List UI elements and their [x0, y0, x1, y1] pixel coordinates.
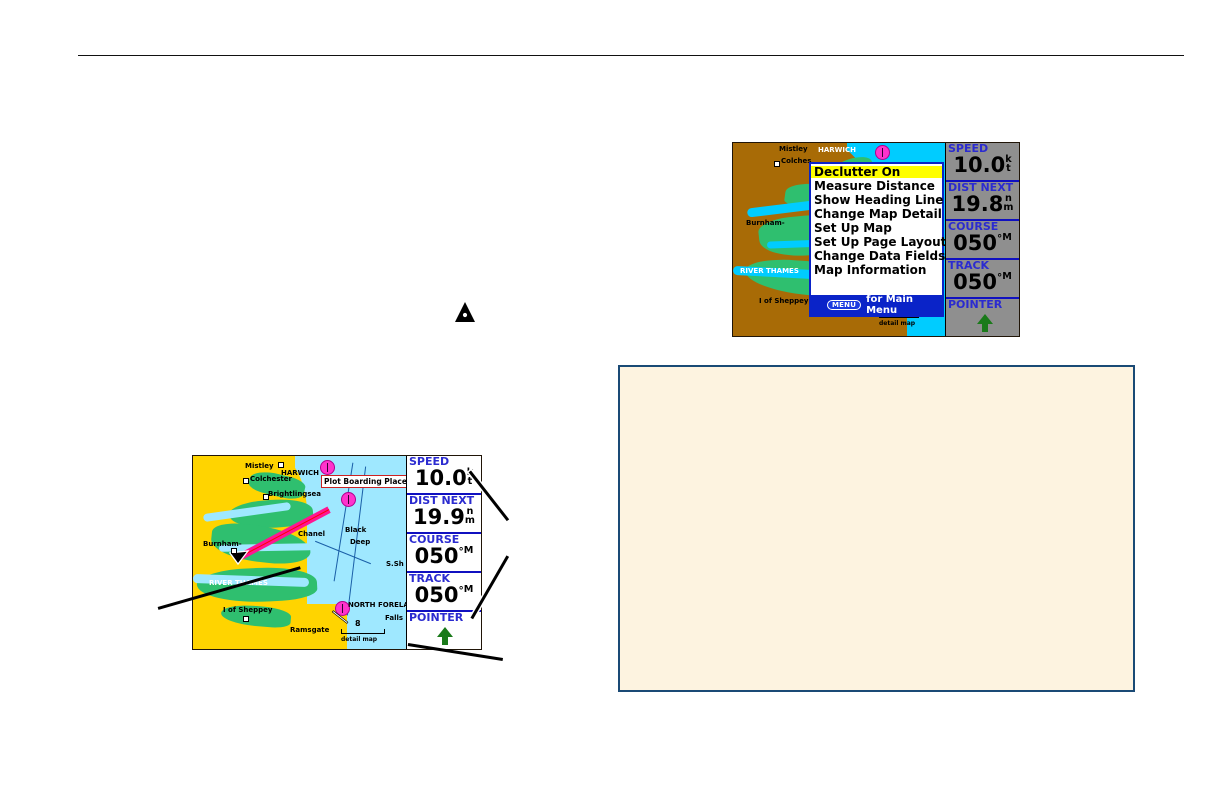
map-label: Chanel [298, 530, 325, 538]
town-marker [243, 478, 249, 484]
unit-bottom: m [465, 516, 475, 525]
data-field-label: POINTER [409, 612, 479, 623]
map-scale-caption: detail map [341, 636, 377, 643]
menu-item-map-information[interactable]: Map Information [811, 264, 942, 276]
value-text: 050 [415, 544, 459, 568]
unit-bottom: t [467, 477, 473, 486]
data-field-label: POINTER [948, 299, 1017, 310]
data-field-speed[interactable]: SPEED 10.0kt [407, 456, 481, 495]
warning-triangle-icon [453, 300, 477, 324]
menu-item-change-data-fields[interactable]: Change Data Fields [811, 250, 942, 262]
arrow-up-icon [948, 313, 1017, 337]
data-field-dist-next[interactable]: DIST NEXT 19.9nm [407, 495, 481, 534]
menu-item-show-heading-line[interactable]: Show Heading Line [811, 194, 942, 206]
town-marker [278, 462, 284, 468]
town-marker [243, 616, 249, 622]
data-field-course[interactable]: COURSE 050°M [407, 534, 481, 573]
gps-screenshot-top: Mistley Colches HARWICH Burnham- RIVER T… [732, 142, 1020, 337]
map-label: Mistley [245, 462, 274, 470]
note-callout-box [618, 365, 1135, 692]
value-unit: M [464, 546, 474, 555]
data-field-value: 19.9nm [409, 507, 479, 528]
waypoint-buoy-icon [341, 492, 356, 507]
data-field-track[interactable]: TRACK 050°M [407, 573, 481, 612]
map-label: NORTH FORELA [348, 601, 406, 609]
gps-screenshot-bottom: Mistley HARWICH Colchester Brightlingsea… [192, 455, 482, 650]
menu-footer-text: for Main Menu [866, 294, 942, 316]
chart-map-area-bottom[interactable]: Mistley HARWICH Colchester Brightlingsea… [193, 456, 406, 649]
plot-boarding-place-callout: Plot Boarding Place [321, 475, 406, 488]
map-label: Colchester [250, 475, 292, 483]
data-field-value: 10.0kt [948, 155, 1017, 176]
value-text: 10.0 [415, 466, 467, 490]
value-unit: M [1002, 233, 1012, 242]
map-label: Colches [781, 157, 811, 165]
menu-item-measure-distance[interactable]: Measure Distance [811, 180, 942, 192]
data-field-dist-next[interactable]: DIST NEXT 19.8nm [946, 182, 1019, 221]
value-unit: M [464, 585, 474, 594]
data-field-column-bottom: SPEED 10.0kt DIST NEXT 19.9nm COURSE 050… [406, 456, 481, 649]
unit-bottom: M [464, 546, 474, 555]
town-marker [231, 548, 237, 554]
data-field-speed[interactable]: SPEED 10.0kt [946, 143, 1019, 182]
map-label: Mistley [779, 145, 808, 153]
map-label: Burnham- [746, 219, 785, 227]
value-unit: nm [1003, 194, 1013, 212]
value-text: 050 [415, 583, 459, 607]
value-text: 050 [953, 270, 997, 294]
menu-item-declutter-on[interactable]: Declutter On [811, 166, 942, 178]
value-text: 10.0 [953, 153, 1005, 177]
unit-bottom: M [1002, 272, 1012, 281]
unit-bottom: M [1002, 233, 1012, 242]
data-field-value: 050°M [409, 546, 479, 567]
map-label: I of Sheppey [759, 297, 808, 305]
data-field-pointer[interactable]: POINTER [946, 299, 1019, 336]
unit-bottom: M [464, 585, 474, 594]
data-field-column-top: SPEED 10.0kt DIST NEXT 19.8nm COURSE 050… [945, 143, 1019, 336]
menu-item-set-up-map[interactable]: Set Up Map [811, 222, 942, 234]
waypoint-buoy-icon [320, 460, 335, 475]
map-options-menu[interactable]: Declutter On Measure Distance Show Headi… [809, 162, 944, 317]
map-label: Brightlingsea [268, 490, 321, 498]
data-field-value: 050°M [409, 585, 479, 606]
map-label: Burnham- [203, 540, 242, 548]
menu-footer: MENU for Main Menu [811, 295, 942, 315]
map-label: I of Sheppey [223, 606, 272, 614]
map-label: Ramsgate [290, 626, 329, 634]
map-label: HARWICH [818, 146, 856, 154]
value-text: 19.9 [413, 505, 465, 529]
value-unit: kt [1005, 155, 1011, 173]
data-field-value: 050°M [948, 272, 1017, 293]
document-page: Mistley Colches HARWICH Burnham- RIVER T… [0, 0, 1224, 792]
map-label: Falls [385, 614, 403, 622]
data-field-course[interactable]: COURSE 050°M [946, 221, 1019, 260]
map-label: Black [345, 526, 366, 534]
value-unit: nm [465, 507, 475, 525]
menu-item-change-map-detail[interactable]: Change Map Detail [811, 208, 942, 220]
value-unit: M [1002, 272, 1012, 281]
menu-key-badge[interactable]: MENU [827, 300, 861, 310]
map-scale-bar [341, 629, 385, 634]
unit-bottom: m [1003, 203, 1013, 212]
value-text: 050 [953, 231, 997, 255]
unit-bottom: t [1005, 164, 1011, 173]
map-label: Deep [350, 538, 370, 546]
map-scale-value: 8 [355, 619, 361, 628]
header-rule [78, 55, 1184, 56]
data-field-value: 19.8nm [948, 194, 1017, 215]
town-marker [774, 161, 780, 167]
map-label: S.Sh [386, 560, 404, 568]
data-field-value: 050°M [948, 233, 1017, 254]
data-field-track[interactable]: TRACK 050°M [946, 260, 1019, 299]
value-text: 19.8 [952, 192, 1004, 216]
map-scale-caption: detail map [879, 320, 915, 327]
waypoint-buoy-icon [875, 145, 890, 160]
map-label: RIVER THAMES [740, 267, 799, 275]
menu-item-set-up-page-layout[interactable]: Set Up Page Layout [811, 236, 942, 248]
